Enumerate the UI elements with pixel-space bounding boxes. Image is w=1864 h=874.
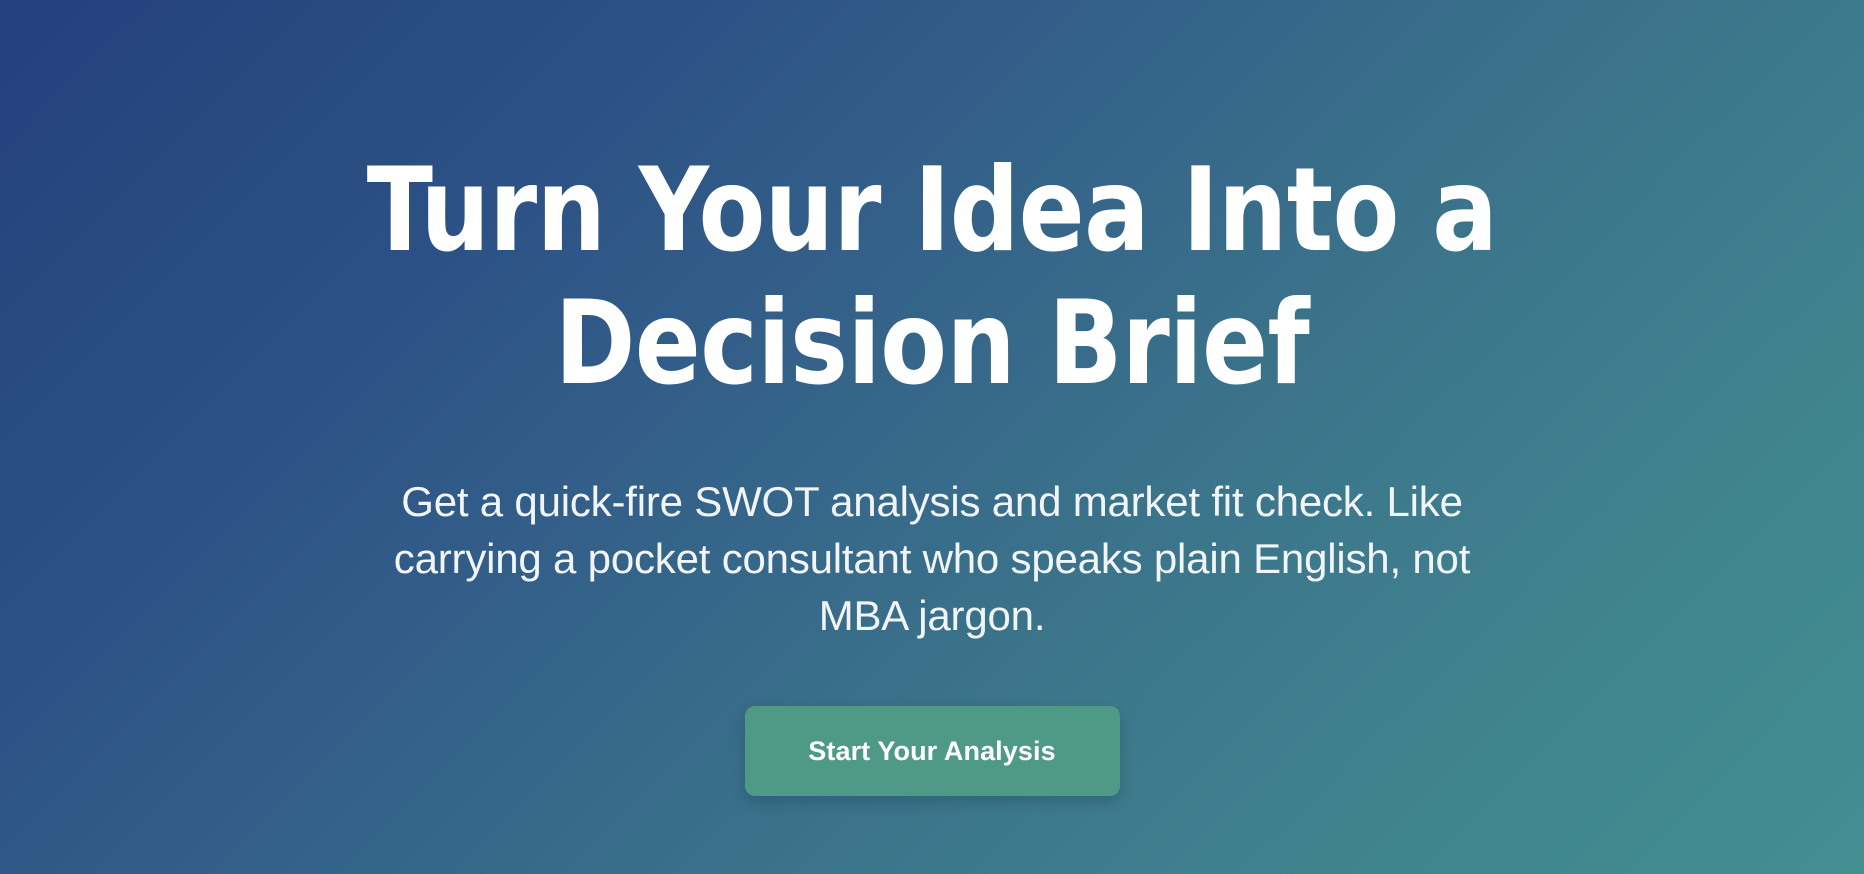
hero-subtitle: Get a quick-fire SWOT analysis and marke… (352, 473, 1512, 644)
subheadline-line-2: consultant who speaks plain English, not… (722, 535, 1470, 639)
hero-content: Turn Your Idea Into a Decision Brief Get… (0, 0, 1864, 796)
page-title: Turn Your Idea Into a Decision Brief (281, 144, 1583, 410)
headline-line-2: Decision Brief (281, 277, 1583, 410)
start-your-analysis-button[interactable]: Start Your Analysis (745, 706, 1120, 796)
cta-container: Start Your Analysis (0, 706, 1864, 796)
hero-section: Turn Your Idea Into a Decision Brief Get… (0, 0, 1864, 874)
headline-line-1: Turn Your Idea Into a (281, 144, 1583, 277)
